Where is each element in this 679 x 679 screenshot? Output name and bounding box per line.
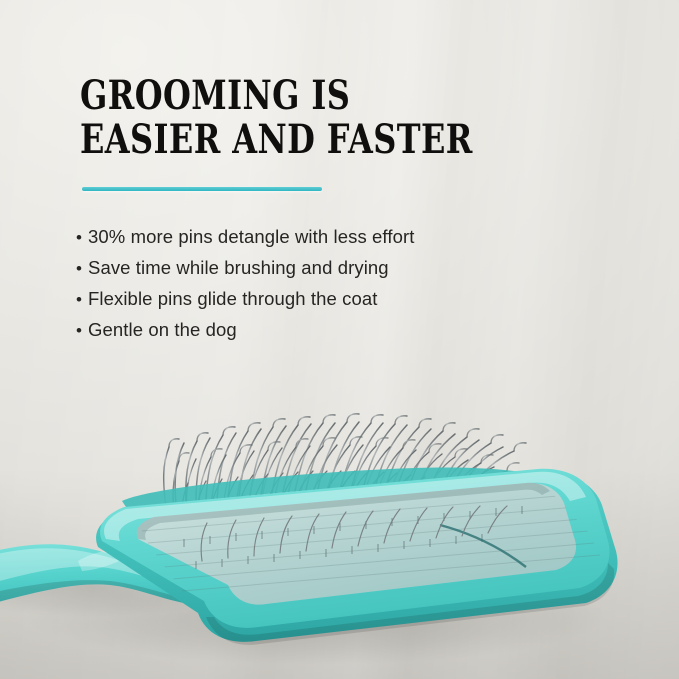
bullet-text: Flexible pins glide through the coat xyxy=(88,288,378,310)
bullet-text: 30% more pins detangle with less effort xyxy=(88,226,414,248)
list-item: • 30% more pins detangle with less effor… xyxy=(76,226,636,257)
list-item: • Flexible pins glide through the coat xyxy=(76,288,636,319)
bullet-marker-icon: • xyxy=(76,260,88,277)
bullet-marker-icon: • xyxy=(76,229,88,246)
bullet-marker-icon: • xyxy=(76,291,88,308)
bullet-text: Save time while brushing and drying xyxy=(88,257,389,279)
accent-divider xyxy=(82,187,322,191)
list-item: • Gentle on the dog xyxy=(76,319,636,350)
product-marketing-image: GROOMING IS EASIER AND FASTER • 30% more… xyxy=(0,0,679,679)
feature-bullet-list: • 30% more pins detangle with less effor… xyxy=(76,226,636,350)
headline: GROOMING IS EASIER AND FASTER xyxy=(80,74,512,162)
product-image-slicker-brush xyxy=(0,355,679,679)
bullet-marker-icon: • xyxy=(76,322,88,339)
bullet-text: Gentle on the dog xyxy=(88,319,237,341)
headline-line-2: EASIER AND FASTER xyxy=(80,118,512,162)
headline-line-1: GROOMING IS xyxy=(80,74,512,118)
list-item: • Save time while brushing and drying xyxy=(76,257,636,288)
